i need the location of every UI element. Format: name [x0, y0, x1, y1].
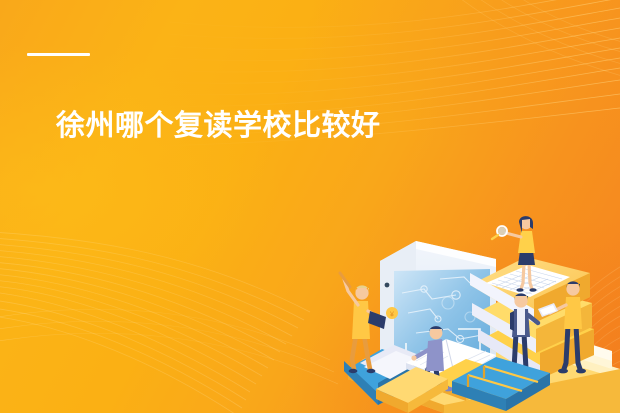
camera-dot — [385, 283, 390, 288]
svg-text:¥: ¥ — [390, 312, 394, 319]
education-isometric-illustration: ¥ — [320, 173, 620, 413]
page-title: 徐州哪个复读学校比较好 — [56, 105, 416, 147]
accent-rule — [27, 53, 90, 56]
article-cover-banner: 徐州哪个复读学校比较好 — [0, 0, 620, 413]
